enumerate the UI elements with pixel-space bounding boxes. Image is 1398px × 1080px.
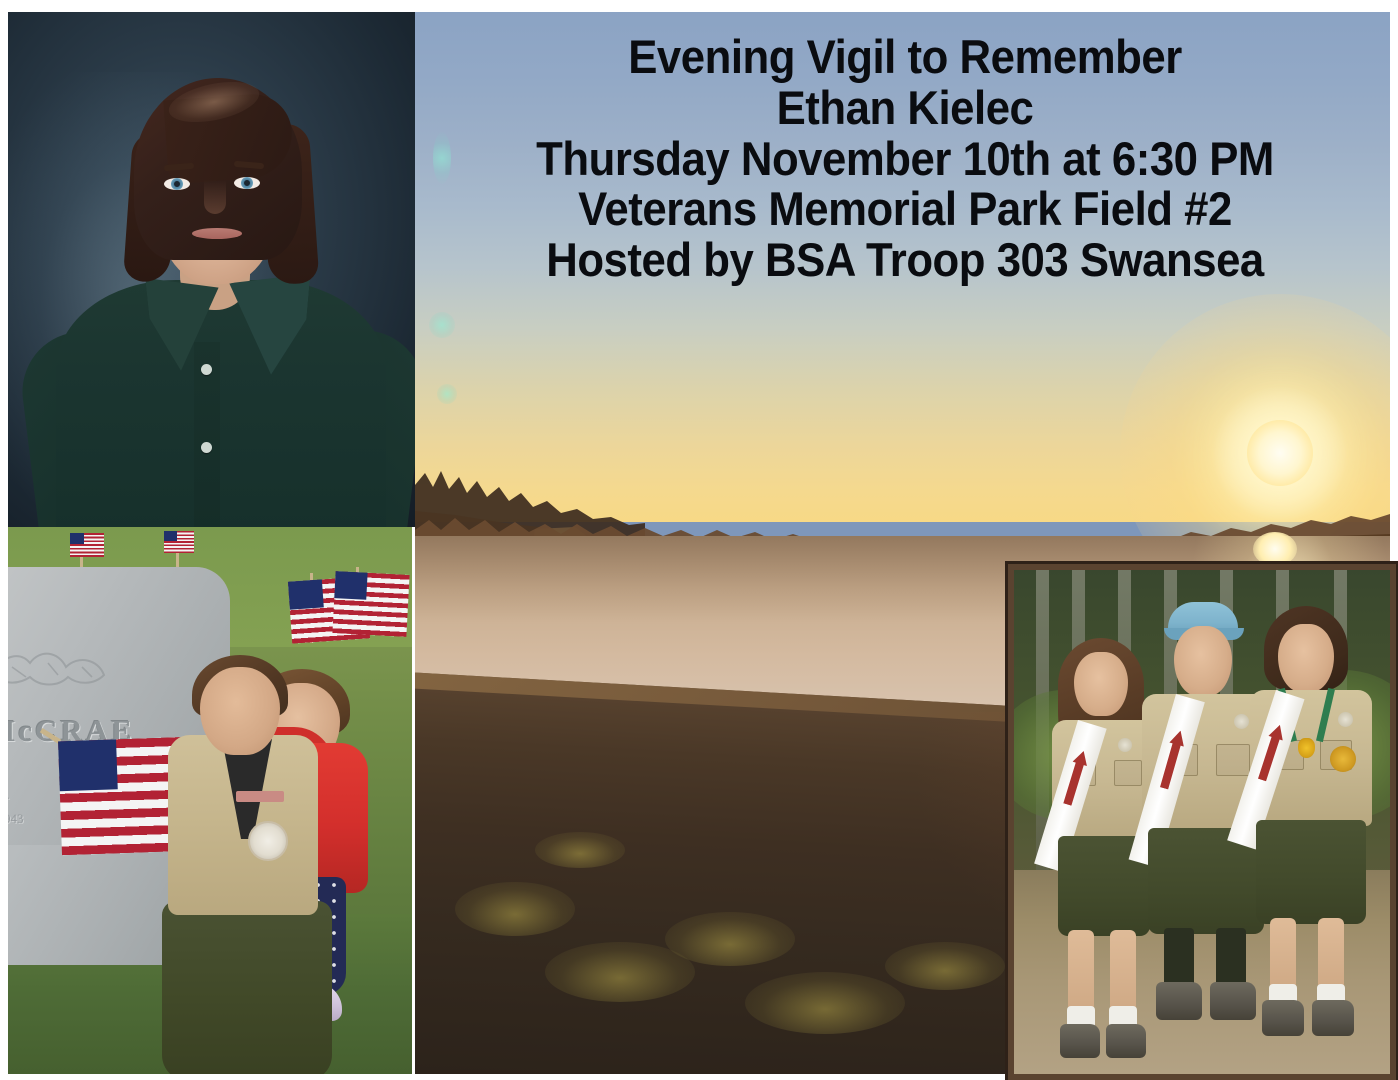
scout-right-boot bbox=[1262, 1000, 1304, 1036]
headstone-date: 10, 1943 bbox=[8, 811, 24, 827]
iris-right bbox=[241, 177, 253, 189]
scout-left-leg bbox=[1068, 930, 1094, 1012]
scout-green-pants bbox=[162, 901, 332, 1074]
american-flag-small bbox=[164, 531, 194, 553]
scout-boy-head bbox=[200, 667, 280, 755]
flag-canton bbox=[70, 533, 84, 544]
scout-left-boot bbox=[1060, 1024, 1100, 1058]
scout-name-strip bbox=[236, 791, 284, 802]
eagle-rank-patch bbox=[1330, 746, 1356, 772]
polo-button bbox=[201, 442, 212, 453]
flag-canton bbox=[164, 531, 177, 541]
headstone-floral-carving bbox=[8, 637, 132, 697]
lens-flare-dot-2 bbox=[437, 384, 457, 404]
scout-unit-patch bbox=[248, 821, 288, 861]
scout-right-boot bbox=[1312, 1000, 1354, 1036]
scout-leader-knee-sock bbox=[1216, 928, 1246, 990]
flyer-canvas: McCRAE E ER R. 10, 1943 bbox=[0, 0, 1398, 1080]
scout-with-toddler-at-grave: McCRAE E ER R. 10, 1943 bbox=[8, 527, 412, 1074]
scout-left-head bbox=[1074, 652, 1128, 716]
water-sun-glint-near bbox=[1253, 532, 1297, 566]
grass-tuft bbox=[885, 942, 1005, 990]
event-headline: Evening Vigil to Remember Ethan Kielec T… bbox=[430, 32, 1380, 286]
headline-line-5: Hosted by BSA Troop 303 Swansea bbox=[463, 235, 1347, 286]
scout-right-badge bbox=[1338, 712, 1353, 727]
lens-flare-dot-1 bbox=[429, 312, 455, 338]
eagle-medal bbox=[1298, 738, 1315, 758]
scout-right-leg bbox=[1270, 918, 1296, 990]
eye-right bbox=[234, 177, 260, 189]
american-flag-right-2 bbox=[332, 571, 409, 637]
eye-left bbox=[164, 178, 190, 190]
scout-right-leg bbox=[1318, 918, 1344, 990]
three-scouts-in-uniform bbox=[1014, 570, 1390, 1074]
grass-tuft bbox=[535, 832, 625, 868]
shirt-pocket bbox=[1114, 760, 1142, 786]
shirt-pocket bbox=[1216, 744, 1250, 776]
scout-left-boot bbox=[1106, 1024, 1146, 1058]
scout-right bbox=[1246, 598, 1380, 1068]
headline-line-3: Thursday November 10th at 6:30 PM bbox=[463, 134, 1347, 185]
flag-canton bbox=[58, 739, 118, 791]
scout-boy bbox=[156, 643, 346, 1073]
sun-disc bbox=[1247, 420, 1313, 486]
headline-line-2: Ethan Kielec bbox=[463, 83, 1347, 134]
flag-canton bbox=[334, 571, 367, 600]
scout-right-shorts bbox=[1256, 820, 1366, 924]
headstone-line-2: ER R. bbox=[8, 787, 10, 803]
scout-leader-boot bbox=[1156, 982, 1202, 1020]
polo-shirt bbox=[56, 280, 386, 527]
scout-right-head bbox=[1278, 624, 1334, 692]
scout-left-leg bbox=[1110, 930, 1136, 1012]
mouth bbox=[192, 228, 242, 239]
portrait-of-ethan-kielec bbox=[8, 12, 415, 527]
grass-tuft bbox=[665, 912, 795, 966]
flag-canton bbox=[288, 579, 324, 609]
scout-leader-knee-sock bbox=[1164, 928, 1194, 990]
grass-tuft bbox=[455, 882, 575, 936]
iris-left bbox=[171, 178, 183, 190]
polo-button bbox=[201, 364, 212, 375]
headline-line-4: Veterans Memorial Park Field #2 bbox=[463, 184, 1347, 235]
scout-leader-head bbox=[1174, 626, 1232, 696]
american-flag-small bbox=[70, 533, 104, 557]
grass-tuft bbox=[745, 972, 905, 1034]
headline-line-1: Evening Vigil to Remember bbox=[463, 32, 1347, 83]
nose bbox=[204, 180, 226, 214]
scout-left-badge bbox=[1118, 738, 1132, 752]
